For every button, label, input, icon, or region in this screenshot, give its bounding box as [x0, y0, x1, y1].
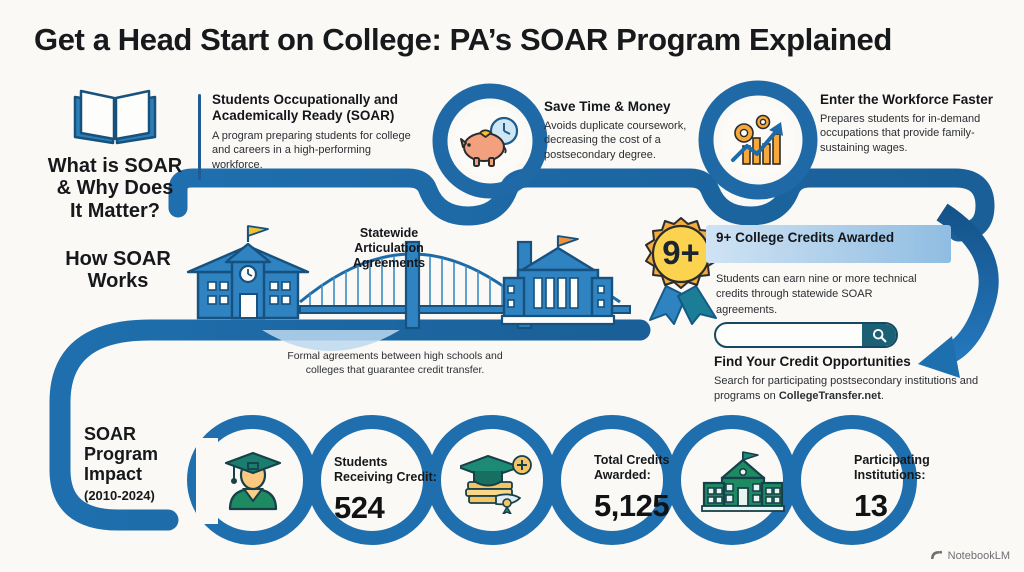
- stat-value: 5,125: [594, 490, 704, 521]
- find-body-suffix: .: [881, 390, 884, 402]
- label-line-1: SOAR: [84, 424, 224, 444]
- stat-value: 524: [334, 492, 446, 523]
- body-line-2: colleges that guarantee credit transfer.: [255, 364, 535, 378]
- graduation-cap-books-icon: [460, 450, 534, 514]
- stat-label-line-2: Awarded:: [594, 468, 704, 483]
- impact-years: (2010-2024): [84, 488, 224, 503]
- benefit-card-workforce: Enter the Workforce Faster Prepares stud…: [820, 92, 995, 155]
- stat-label-line-1: Students: [334, 455, 446, 470]
- watermark-label: NotebookLM: [948, 550, 1010, 562]
- stat-value: 13: [854, 490, 974, 521]
- notebooklm-watermark: NotebookLM: [930, 549, 1010, 562]
- school-building-icon: [188, 226, 308, 318]
- benefit-card-soar: Students Occupationally and Academically…: [212, 92, 414, 172]
- stat-label-line-1: Participating: [854, 453, 974, 468]
- stat-label-line-2: Institutions:: [854, 468, 974, 483]
- articulation-heading: Statewide Articulation Agreements: [330, 226, 448, 271]
- credits-body: Students can earn nine or more technical…: [716, 272, 921, 318]
- heading-line-1: Statewide: [330, 226, 448, 241]
- label-line-1: What is SOAR: [40, 155, 190, 177]
- infographic-canvas: Get a Head Start on College: PA’s SOAR P…: [0, 0, 1024, 572]
- piggy-bank-clock-icon: [458, 113, 522, 169]
- ribbon-top: [178, 178, 985, 216]
- ribbon-impact-circles: [194, 422, 910, 538]
- benefit-heading: Save Time & Money: [544, 99, 706, 115]
- heading-line-3: Agreements: [330, 256, 448, 271]
- label-line-2: Works: [48, 270, 188, 292]
- find-heading: Find Your Credit Opportunities: [714, 354, 984, 370]
- credits-heading: 9+ College Credits Awarded: [716, 230, 906, 246]
- growth-chart-circle: [721, 103, 795, 177]
- heading-line-2: Articulation: [330, 241, 448, 256]
- page-title: Get a Head Start on College: PA’s SOAR P…: [34, 22, 892, 58]
- what-is-soar-section: What is SOAR & Why Does It Matter?: [40, 85, 190, 222]
- label-line-2: Program: [84, 444, 224, 464]
- label-line-2: & Why Does: [40, 177, 190, 199]
- label-line-3: It Matter?: [40, 200, 190, 222]
- find-body: Search for participating postsecondary i…: [714, 374, 984, 403]
- benefit-body: Avoids duplicate coursework, decreasing …: [544, 119, 706, 163]
- growth-chart-gears-icon: [725, 110, 791, 170]
- benefit-heading: Students Occupationally and Academically…: [212, 92, 414, 124]
- piggy-bank-circle: [455, 106, 525, 176]
- body-line-1: Formal agreements between high schools a…: [255, 350, 535, 364]
- label-line-1: How SOAR: [48, 248, 188, 270]
- benefit-body: Prepares students for in-demand occupati…: [820, 112, 995, 156]
- stat-participating-institutions: Participating Institutions: 13: [854, 453, 974, 521]
- benefit-card-save: Save Time & Money Avoids duplicate cours…: [544, 99, 706, 162]
- how-soar-works-label: How SOAR Works: [48, 248, 188, 293]
- badge-value: 9+: [662, 234, 700, 271]
- search-input[interactable]: [714, 322, 898, 348]
- find-credit-opportunities: Find Your Credit Opportunities Search fo…: [714, 354, 984, 403]
- label-line-3: Impact: [84, 464, 224, 484]
- stat-total-credits-awarded: Total Credits Awarded: 5,125: [594, 453, 704, 521]
- open-book-icon: [69, 85, 161, 147]
- search-button[interactable]: [862, 324, 896, 346]
- stat-label-line-1: Total Credits: [594, 453, 704, 468]
- benefit-heading: Enter the Workforce Faster: [820, 92, 995, 108]
- search-icon: [872, 328, 887, 343]
- accent-rule: [198, 94, 201, 180]
- impact-label: SOAR Program Impact (2010-2024): [84, 424, 224, 503]
- notebooklm-logo-icon: [930, 549, 943, 562]
- articulation-body: Formal agreements between high schools a…: [255, 350, 535, 377]
- stat-students-receiving-credit: Students Receiving Credit: 524: [334, 455, 446, 523]
- what-is-soar-label: What is SOAR & Why Does It Matter?: [40, 155, 190, 222]
- capitol-building-icon: [498, 232, 618, 330]
- benefit-body: A program preparing students for college…: [212, 129, 414, 173]
- institution-building-icon: [700, 450, 786, 514]
- graduate-student-icon: [222, 447, 284, 515]
- stat-label-line-2: Receiving Credit:: [334, 470, 446, 485]
- collegetransfer-link[interactable]: CollegeTransfer.net: [779, 390, 881, 402]
